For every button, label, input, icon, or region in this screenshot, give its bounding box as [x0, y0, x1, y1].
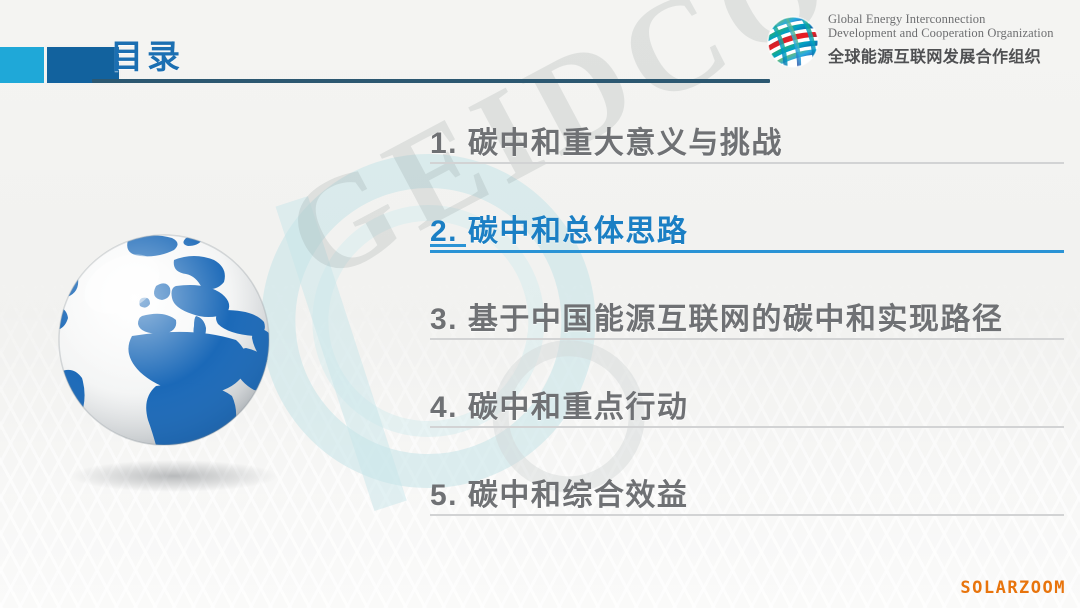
toc-item-1-label: 1. 碳中和重大意义与挑战	[430, 118, 783, 162]
toc-item-5-label: 5. 碳中和综合效益	[430, 470, 688, 514]
toc-item-3-divider	[430, 338, 1064, 340]
brand-line-en-1: Global Energy Interconnection	[828, 12, 1074, 26]
brand-line-en-2: Development and Cooperation Organization	[828, 26, 1074, 40]
toc-item-3-label: 3. 基于中国能源互联网的碳中和实现路径	[430, 294, 1003, 338]
toc-item-4-divider	[430, 426, 1064, 428]
toc-item-2-divider	[430, 250, 1064, 253]
slide-canvas: GEIDCO 目录	[0, 0, 1080, 608]
toc-item-2-active-cap	[430, 244, 466, 247]
header-accent-square-dark	[47, 47, 119, 83]
toc-item-1-divider	[430, 162, 1064, 164]
toc-item-5-divider	[430, 514, 1064, 516]
brand-line-cn: 全球能源互联网发展合作组织	[828, 43, 1074, 67]
page-title: 目录	[110, 30, 184, 78]
solarzoom-watermark: SOLARZOOM	[960, 578, 1066, 598]
header-divider-rule	[92, 79, 770, 83]
toc-item-2-label: 2. 碳中和总体思路	[430, 206, 688, 250]
globe-stripes-icon	[762, 12, 824, 74]
brand-logo: Global Energy Interconnection Developmen…	[762, 8, 1074, 82]
header-accent-square-light	[0, 47, 44, 83]
earth-globe-icon	[46, 224, 314, 502]
toc-item-4-label: 4. 碳中和重点行动	[430, 382, 688, 426]
brand-text-block: Global Energy Interconnection Developmen…	[828, 12, 1074, 67]
